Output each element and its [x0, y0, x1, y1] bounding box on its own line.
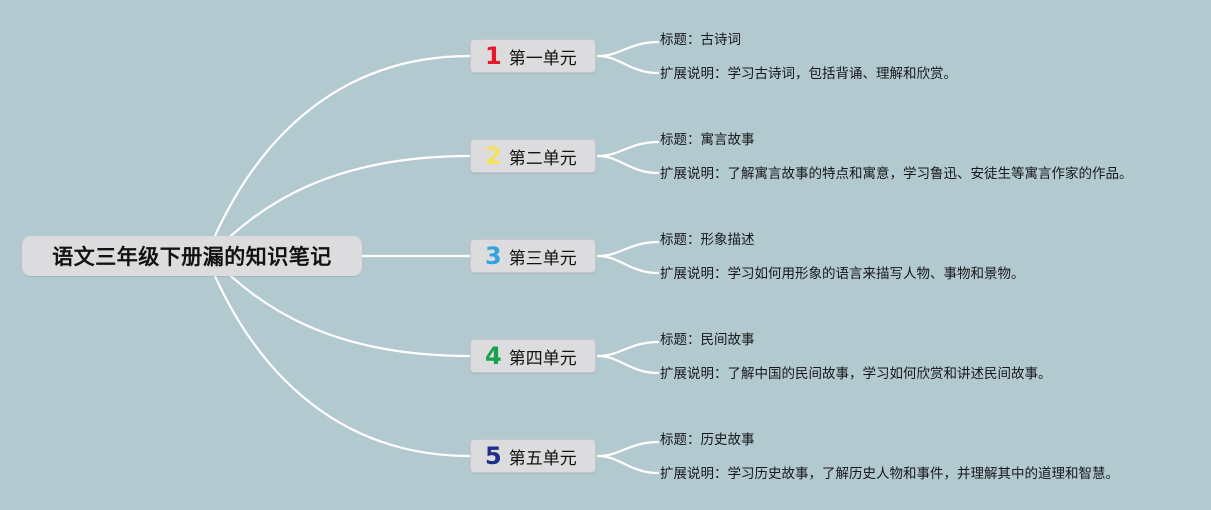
detail-description-4: 扩展说明：了解中国的民间故事，学习如何欣赏和讲述民间故事。 — [660, 367, 1052, 381]
connector-unit-2-fork-bottom — [598, 156, 658, 173]
unit-node-3[interactable]: 3 第三单元 — [470, 239, 596, 273]
connector-unit-2-fork-top — [598, 142, 658, 156]
mindmap-canvas: 语文三年级下册漏的知识笔记 1 第一单元 标题：古诗词 扩展说明：学习古诗词，包… — [0, 0, 1211, 510]
connector-unit-1-fork-top — [598, 42, 658, 56]
detail-block-2: 标题：寓言故事 扩展说明：了解寓言故事的特点和寓意，学习鲁迅、安徒生等寓言作家的… — [660, 133, 1133, 180]
detail-description-5: 扩展说明：学习历史故事，了解历史人物和事件，并理解其中的道理和智慧。 — [660, 467, 1119, 481]
unit-label-2: 第二单元 — [509, 144, 577, 169]
connector-unit-4-fork-bottom — [598, 356, 658, 373]
detail-description-2: 扩展说明：了解寓言故事的特点和寓意，学习鲁迅、安徒生等寓言作家的作品。 — [660, 167, 1133, 181]
detail-title-5: 标题：历史故事 — [660, 433, 1119, 447]
connector-root-unit-5 — [208, 260, 470, 456]
detail-description-1: 扩展说明：学习古诗词，包括背诵、理解和欣赏。 — [660, 67, 957, 81]
root-node[interactable]: 语文三年级下册漏的知识笔记 — [22, 236, 362, 276]
unit-node-2[interactable]: 2 第二单元 — [470, 139, 596, 173]
root-node-label: 语文三年级下册漏的知识笔记 — [52, 241, 332, 271]
detail-title-3: 标题：形象描述 — [660, 233, 1025, 247]
unit-label-4: 第四单元 — [509, 344, 577, 369]
connector-root-unit-1 — [208, 56, 470, 252]
detail-description-3: 扩展说明：学习如何用形象的语言来描写人物、事物和景物。 — [660, 267, 1025, 281]
detail-block-3: 标题：形象描述 扩展说明：学习如何用形象的语言来描写人物、事物和景物。 — [660, 233, 1025, 280]
unit-label-5: 第五单元 — [509, 444, 577, 469]
unit-number-4: 4 — [485, 344, 502, 368]
unit-label-1: 第一单元 — [509, 44, 577, 69]
unit-number-1: 1 — [485, 44, 502, 68]
connector-unit-4-fork-top — [598, 342, 658, 356]
unit-node-4[interactable]: 4 第四单元 — [470, 339, 596, 373]
unit-number-5: 5 — [485, 444, 502, 468]
unit-label-3: 第三单元 — [509, 244, 577, 269]
unit-node-1[interactable]: 1 第一单元 — [470, 39, 596, 73]
detail-title-2: 标题：寓言故事 — [660, 133, 1133, 147]
connector-unit-3-fork-top — [598, 242, 658, 256]
detail-title-4: 标题：民间故事 — [660, 333, 1052, 347]
unit-number-2: 2 — [485, 144, 502, 168]
connector-unit-1-fork-bottom — [598, 56, 658, 73]
detail-block-1: 标题：古诗词 扩展说明：学习古诗词，包括背诵、理解和欣赏。 — [660, 33, 957, 80]
detail-block-5: 标题：历史故事 扩展说明：学习历史故事，了解历史人物和事件，并理解其中的道理和智… — [660, 433, 1119, 480]
unit-number-3: 3 — [485, 244, 502, 268]
unit-node-5[interactable]: 5 第五单元 — [470, 439, 596, 473]
detail-title-1: 标题：古诗词 — [660, 33, 957, 47]
detail-block-4: 标题：民间故事 扩展说明：了解中国的民间故事，学习如何欣赏和讲述民间故事。 — [660, 333, 1052, 380]
connector-unit-5-fork-top — [598, 442, 658, 456]
connector-unit-5-fork-bottom — [598, 456, 658, 473]
connector-unit-3-fork-bottom — [598, 256, 658, 273]
